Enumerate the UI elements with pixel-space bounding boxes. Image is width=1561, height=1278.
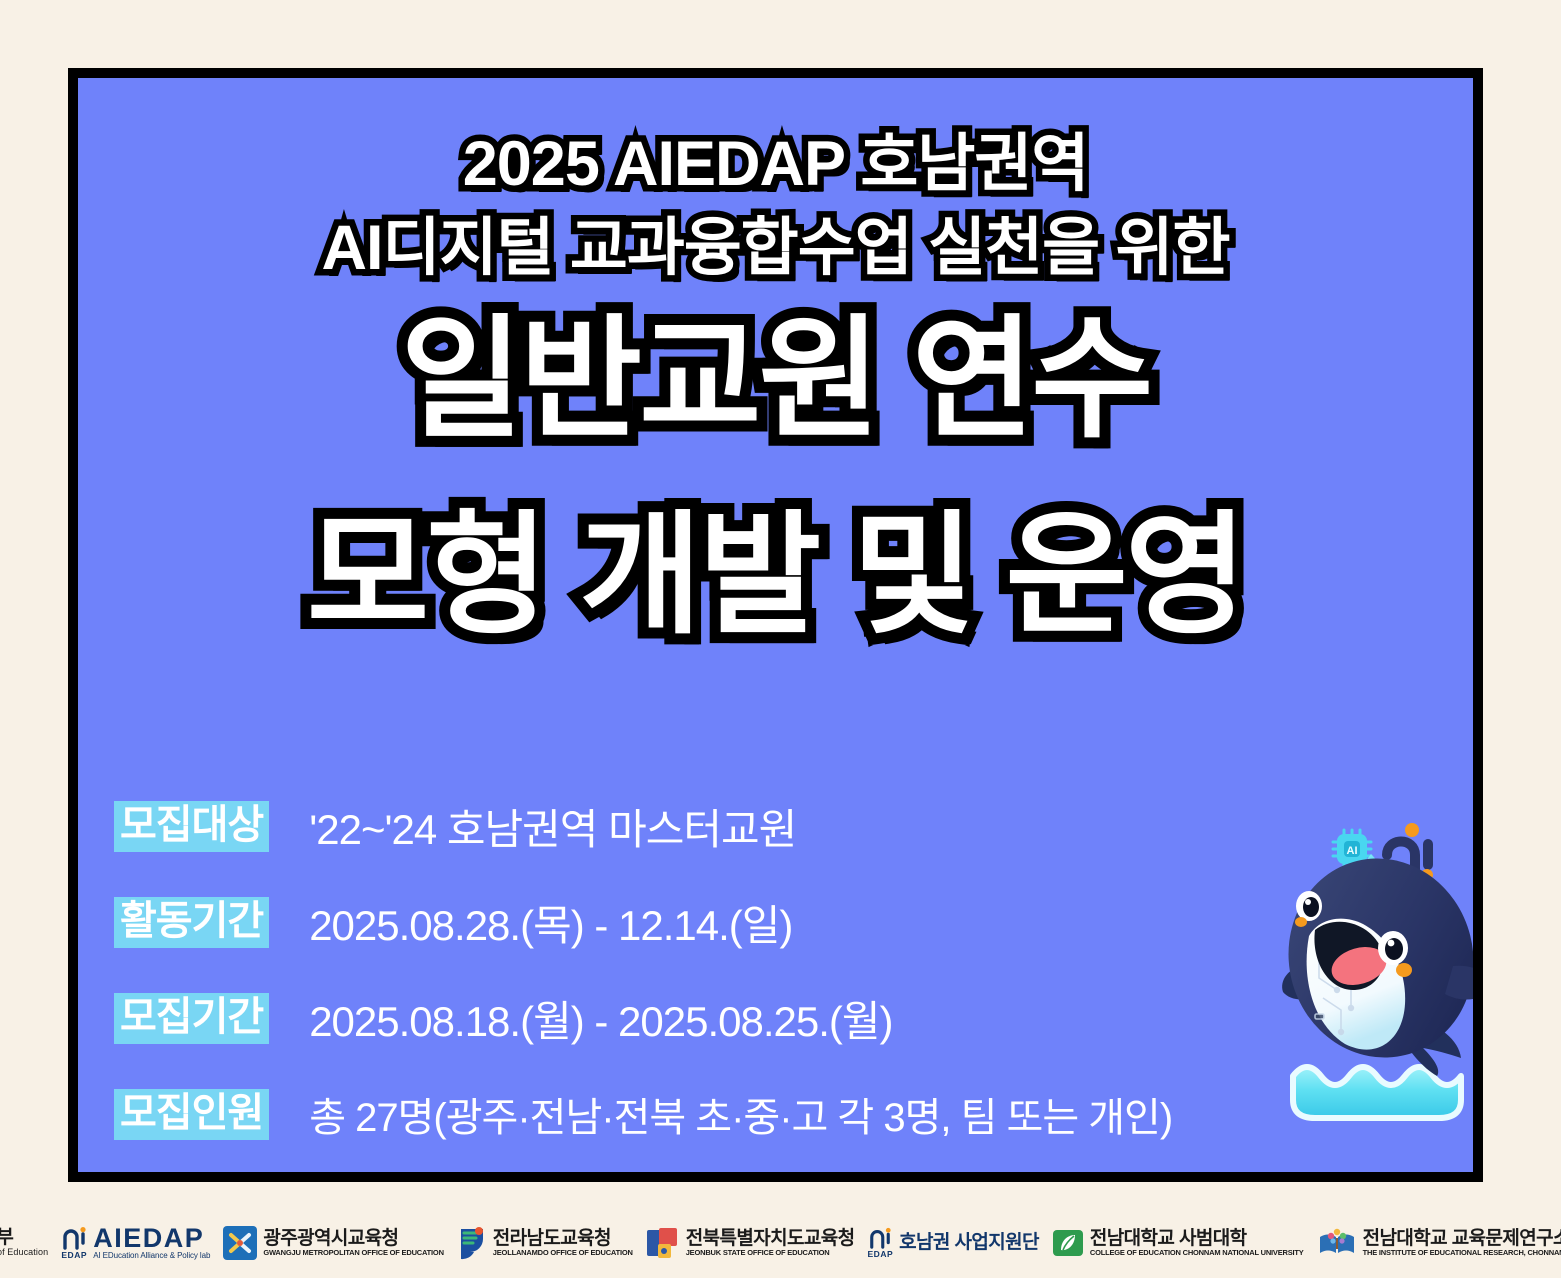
info-row: 모집인원 총 27명(광주·전남·전북 초·중·고 각 3명, 팀 또는 개인) — [114, 1066, 1459, 1162]
logo-label-ko: 호남권 사업지원단 — [899, 1233, 1039, 1253]
info-value: 총 27명(광주·전남·전북 초·중·고 각 3명, 팀 또는 개인) — [309, 1085, 1172, 1143]
logo-label-ko: 전북특별자치도교육청 — [686, 1229, 855, 1249]
logo-label-ko: 광주광역시교육청 — [263, 1229, 443, 1249]
poster-panel: 2025 AIEDAP 호남권역 AI디지털 교과융합수업 실천을 위한 일반교… — [68, 68, 1483, 1182]
info-row: 모집대상 '22~'24 호남권역 마스터교원 — [114, 778, 1459, 874]
info-row: 모집기간 2025.08.18.(월) - 2025.08.25.(월) — [114, 970, 1459, 1066]
aiedap-mark-icon — [61, 1226, 87, 1250]
whale-cheek-left — [1295, 917, 1307, 927]
logo-gwangju-office-of-education: 광주광역시교육청 GWANGJU METROPOLITAN OFFICE OF … — [223, 1226, 443, 1260]
logo-label-en: THE INSTITUTE OF EDUCATIONAL RESEARCH, C… — [1363, 1249, 1561, 1257]
info-label: 활동기간 — [114, 897, 269, 948]
logo-label-ko: 전남대학교 사범대학 — [1090, 1229, 1304, 1249]
book-tree-emblem-icon — [1317, 1227, 1357, 1259]
info-label: 모집대상 — [114, 801, 269, 852]
logo-label-en: GWANGJU METROPOLITAN OFFICE OF EDUCATION — [263, 1249, 443, 1257]
header-line-2: AI디지털 교과융합수업 실천을 위한 — [78, 206, 1473, 290]
poster-header: 2025 AIEDAP 호남권역 AI디지털 교과융합수업 실천을 위한 — [78, 122, 1473, 291]
info-value: 2025.08.28.(목) - 12.14.(일) — [309, 892, 792, 953]
logo-label-ko: 전라남도교육청 — [493, 1229, 633, 1249]
info-value: '22~'24 호남권역 마스터교원 — [309, 796, 796, 857]
whale-eye-right — [1378, 931, 1408, 965]
logo-honam-support-group: EDAP 호남권 사업지원단 — [868, 1227, 1039, 1259]
logo-jeonbuk-state-office-of-education: 전북특별자치도교육청 JEONBUK STATE OFFICE OF EDUCA… — [646, 1226, 855, 1260]
cnu-college-emblem-icon — [1052, 1228, 1084, 1258]
info-label: 모집기간 — [114, 993, 269, 1044]
logo-cnu-college-of-education: 전남대학교 사범대학 COLLEGE OF EDUCATION CHONNAM … — [1052, 1228, 1304, 1258]
svg-text:AI: AI — [1347, 845, 1358, 857]
logo-label-ko: 전남대학교 교육문제연구소 — [1363, 1229, 1561, 1249]
info-table: 모집대상 '22~'24 호남권역 마스터교원 활동기간 2025.08.28.… — [114, 778, 1459, 1162]
logo-label-en: Ministry of Education — [0, 1248, 48, 1257]
jeonbuk-emblem-icon — [646, 1226, 680, 1260]
aiedap-sub-label: EDAP — [868, 1249, 894, 1259]
logo-aiedap: EDAP AIEDAP AI EDucation Alliance & Poli… — [61, 1225, 210, 1260]
aiedap-sub-label: EDAP — [61, 1250, 87, 1260]
poster-title: 일반교원 연수 모형 개발 및 운영 — [78, 283, 1473, 674]
logo-label-en: COLLEGE OF EDUCATION CHONNAM NATIONAL UN… — [1090, 1249, 1304, 1257]
title-line-1: 일반교원 연수 — [78, 283, 1473, 479]
logo-jeollanamdo-office-of-education: 전라남도교육청 JEOLLANAMDO OFFICE OF EDUCATION — [457, 1225, 633, 1261]
whale-eye-left — [1296, 891, 1322, 921]
logo-label-en: JEONBUK STATE OFFICE OF EDUCATION — [686, 1249, 855, 1257]
aiedap-mark-icon — [868, 1227, 892, 1249]
info-label: 모집인원 — [114, 1089, 269, 1140]
logo-ministry-of-education: 교육부 Ministry of Education — [0, 1221, 48, 1265]
gwangju-emblem-icon — [223, 1226, 257, 1260]
title-line-2: 모형 개발 및 운영 — [78, 479, 1473, 675]
info-row: 활동기간 2025.08.28.(목) - 12.14.(일) — [114, 874, 1459, 970]
logo-label-en: AI EDucation Alliance & Policy lab — [93, 1252, 210, 1260]
logo-label-ko: 교육부 — [0, 1228, 48, 1248]
whale-cheek-right — [1396, 963, 1412, 977]
jeollanamdo-emblem-icon — [457, 1225, 487, 1261]
logo-cnu-institute-of-educational-research: 전남대학교 교육문제연구소 THE INSTITUTE OF EDUCATION… — [1317, 1227, 1561, 1259]
logo-label-en: JEOLLANAMDO OFFICE OF EDUCATION — [493, 1249, 633, 1257]
footer-logo-bar: 교육부 Ministry of Education EDAP AIEDAP AI… — [0, 1208, 1561, 1278]
logo-label-ko: AIEDAP — [93, 1225, 210, 1252]
header-line-1: 2025 AIEDAP 호남권역 — [78, 122, 1473, 206]
info-value: 2025.08.18.(월) - 2025.08.25.(월) — [309, 988, 892, 1049]
whale-mascot: AI — [1263, 818, 1483, 1143]
